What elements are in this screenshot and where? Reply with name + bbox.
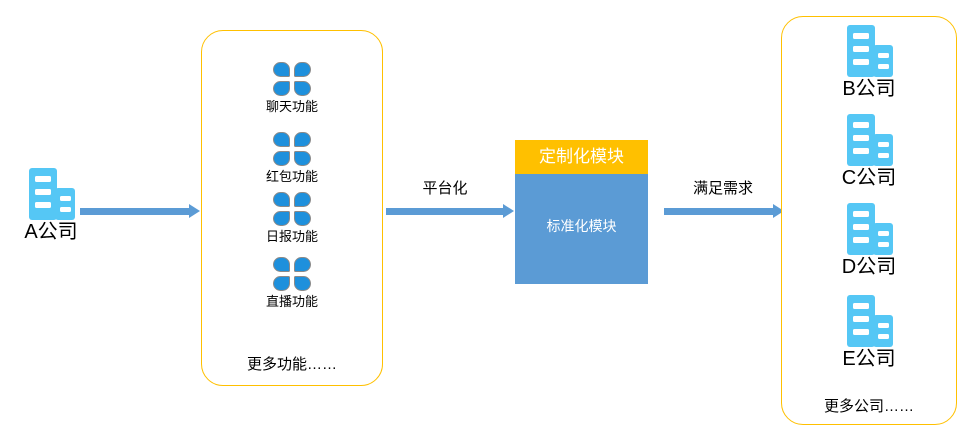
feature-label: 红包功能	[222, 168, 362, 186]
customer-company-label: E公司	[824, 347, 914, 371]
arrow-meet-demand-label: 满足需求	[663, 179, 783, 199]
clover-icon	[273, 257, 311, 291]
arrow-shaft	[386, 208, 503, 215]
diagram-canvas: A公司 聊天功能 红包功能	[0, 0, 964, 441]
customer-company-d: D公司	[824, 203, 914, 279]
arrow-head	[503, 204, 514, 218]
arrow-head	[189, 204, 200, 218]
arrow-platformization-label: 平台化	[385, 179, 505, 199]
customer-company-label: B公司	[824, 77, 914, 101]
customer-company-label: D公司	[824, 255, 914, 279]
feature-item-redpacket: 红包功能	[222, 132, 362, 186]
feature-label: 日报功能	[222, 228, 362, 246]
building-icon	[845, 203, 893, 255]
module-body-label: 标准化模块	[515, 216, 648, 236]
arrow-shaft	[664, 208, 773, 215]
module-header-customization: 定制化模块	[515, 140, 648, 174]
feature-item-livestream: 直播功能	[222, 257, 362, 311]
arrow-platformization	[386, 204, 514, 218]
feature-item-dailyreport: 日报功能	[222, 192, 362, 246]
arrow-shaft	[80, 208, 189, 215]
building-icon	[845, 25, 893, 77]
feature-label: 直播功能	[222, 293, 362, 311]
feature-item-chat: 聊天功能	[222, 62, 362, 116]
clover-icon	[273, 62, 311, 96]
building-icon	[27, 168, 75, 220]
arrow-meet-demand	[664, 204, 784, 218]
clover-icon	[273, 132, 311, 166]
feature-label: 聊天功能	[222, 98, 362, 116]
building-icon	[845, 114, 893, 166]
clover-icon	[273, 192, 311, 226]
customer-company-e: E公司	[824, 295, 914, 371]
building-icon	[845, 295, 893, 347]
platform-module: 定制化模块 标准化模块	[515, 140, 648, 284]
features-more-label: 更多功能……	[222, 355, 362, 375]
customer-company-b: B公司	[824, 25, 914, 101]
module-body-standardization: 标准化模块	[515, 174, 648, 284]
customer-company-label: C公司	[824, 166, 914, 190]
customers-more-label: 更多公司……	[799, 397, 939, 417]
source-company-label: A公司	[6, 220, 96, 244]
arrow-a-to-features	[80, 204, 200, 218]
customer-company-c: C公司	[824, 114, 914, 190]
